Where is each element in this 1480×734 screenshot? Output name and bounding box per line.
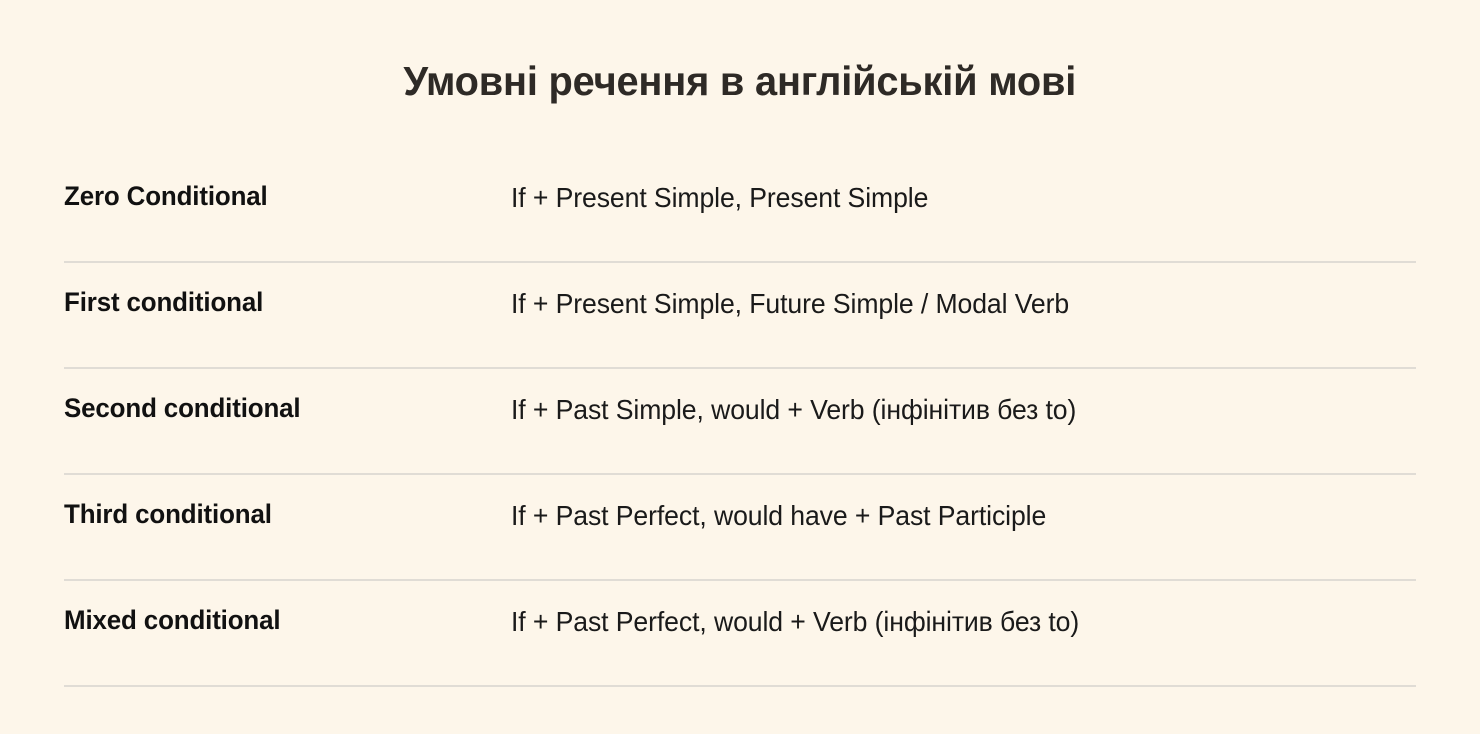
table-row: First conditional If + Present Simple, F… [64,263,1416,369]
conditional-type-label: Zero Conditional [64,181,493,213]
conditional-formula-value: If + Past Simple, would + Verb (інфініти… [511,393,1371,426]
conditional-type-label: First conditional [64,287,493,319]
conditional-formula-value: If + Present Simple, Present Simple [511,181,1371,214]
conditionals-table: Zero Conditional If + Present Simple, Pr… [64,157,1416,687]
conditional-formula-value: If + Past Perfect, would + Verb (інфініт… [511,605,1371,638]
table-row: Mixed conditional If + Past Perfect, wou… [64,581,1416,687]
table-row: Second conditional If + Past Simple, wou… [64,369,1416,475]
table-row: Zero Conditional If + Present Simple, Pr… [64,157,1416,263]
conditional-formula-value: If + Present Simple, Future Simple / Mod… [511,287,1371,320]
conditional-type-label: Third conditional [64,499,493,531]
conditional-formula-value: If + Past Perfect, would have + Past Par… [511,499,1371,532]
table-row: Third conditional If + Past Perfect, wou… [64,475,1416,581]
page-title: Умовні речення в англійській мові [404,58,1077,105]
infographic-root: Умовні речення в англійській мові Zero C… [0,0,1480,734]
title-area: Умовні речення в англійській мові [0,0,1480,105]
conditional-type-label: Mixed conditional [64,605,493,637]
conditional-type-label: Second conditional [64,393,493,425]
